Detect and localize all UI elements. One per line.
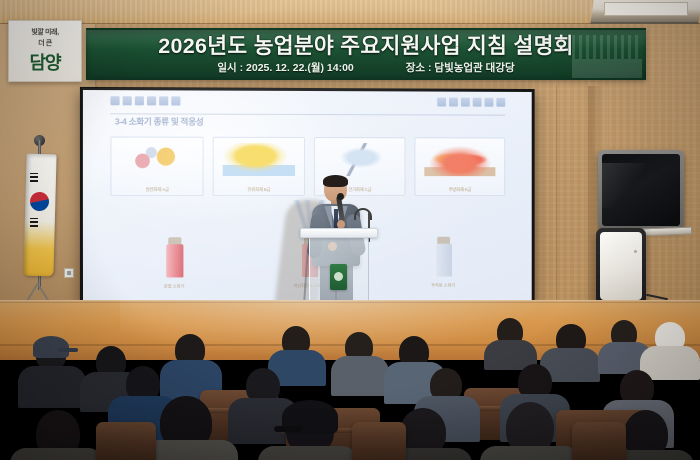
slide-tab-strip — [110, 96, 505, 112]
slide-panel-caption: 일반화재 A급 — [111, 187, 202, 193]
slide-panel: 유류화재 B급 — [213, 137, 306, 196]
fire-class-c-icon — [324, 143, 396, 176]
cap-brim — [58, 348, 78, 352]
attendee-shoulders — [18, 366, 86, 408]
wall-seam — [556, 86, 557, 326]
podium-emblem — [330, 264, 347, 290]
pa-loudspeaker — [596, 228, 646, 304]
attendee-cap — [33, 336, 69, 358]
extinguisher-icon — [436, 243, 452, 277]
auditorium-photo: 빛깔 미래, 더 큰 담양 2026년도 농업분야 주요지원사업 지침 설명회 … — [0, 0, 700, 460]
microphone-head-icon — [337, 193, 344, 200]
banner-datetime: 일시 : 2025. 12. 22.(월) 14:00 — [217, 60, 353, 75]
slide-panel-caption: 유류화재 B급 — [214, 187, 305, 193]
city-logo-line1: 빛깔 미래, — [31, 27, 58, 37]
fire-class-a-icon — [121, 142, 194, 175]
attendee-shoulders — [10, 448, 104, 460]
flag-trigram-icon — [30, 173, 38, 182]
city-logo-line3: 담양 — [29, 49, 60, 75]
slide-tabs-left — [110, 96, 180, 111]
wall-monitor — [598, 150, 684, 230]
wall-switch[interactable] — [64, 268, 74, 278]
banner-title: 2026년도 농업분야 주요지원사업 지침 설명회 — [86, 32, 646, 60]
attendee-shoulders — [480, 446, 580, 460]
auditorium-chair — [572, 422, 626, 460]
banner-subtitle: 일시 : 2025. 12. 22.(월) 14:00 장소 : 담빛농업관 대… — [86, 60, 646, 75]
auditorium-chair — [96, 422, 156, 460]
attendee-shoulders — [258, 446, 358, 460]
slide-tabs-right — [437, 98, 505, 113]
city-logo-line2: 더 큰 — [38, 38, 52, 48]
korean-flag — [8, 140, 72, 325]
ceiling-light-panel — [604, 2, 688, 16]
cap-brim — [274, 426, 302, 432]
attendee-shoulders — [331, 356, 389, 396]
extinguisher-caption: 투척용 소화기 — [381, 283, 505, 289]
auditorium-chair — [352, 422, 406, 460]
extinguisher-caption: 분말 소화기 — [110, 284, 237, 291]
extinguisher-item: 분말 소화기 — [110, 234, 237, 289]
extinguisher-icon — [167, 244, 184, 278]
fire-class-b-icon — [223, 143, 295, 176]
monitor-screen — [602, 154, 680, 226]
fire-class-k-icon — [424, 143, 495, 176]
slide-headline: 3-4 소화기 종류 및 적응성 — [115, 116, 203, 128]
podium-top — [300, 228, 378, 238]
audience-area — [0, 318, 700, 460]
event-banner: 2026년도 농업분야 주요지원사업 지침 설명회 일시 : 2025. 12.… — [86, 28, 646, 80]
presenter-hair — [323, 175, 348, 187]
flag-trigram-icon — [30, 218, 38, 227]
slide-panel: 주방화재 K급 — [414, 137, 505, 196]
extinguisher-item: 투척용 소화기 — [381, 233, 505, 288]
flag-cloth — [23, 154, 56, 277]
banner-venue: 장소 : 담빛농업관 대강당 — [406, 60, 515, 75]
city-logo: 빛깔 미래, 더 큰 담양 — [8, 20, 82, 82]
slide-panel-caption: 주방화재 K급 — [415, 187, 504, 193]
slide-panel: 일반화재 A급 — [110, 137, 203, 196]
loudspeaker-face — [600, 232, 642, 300]
